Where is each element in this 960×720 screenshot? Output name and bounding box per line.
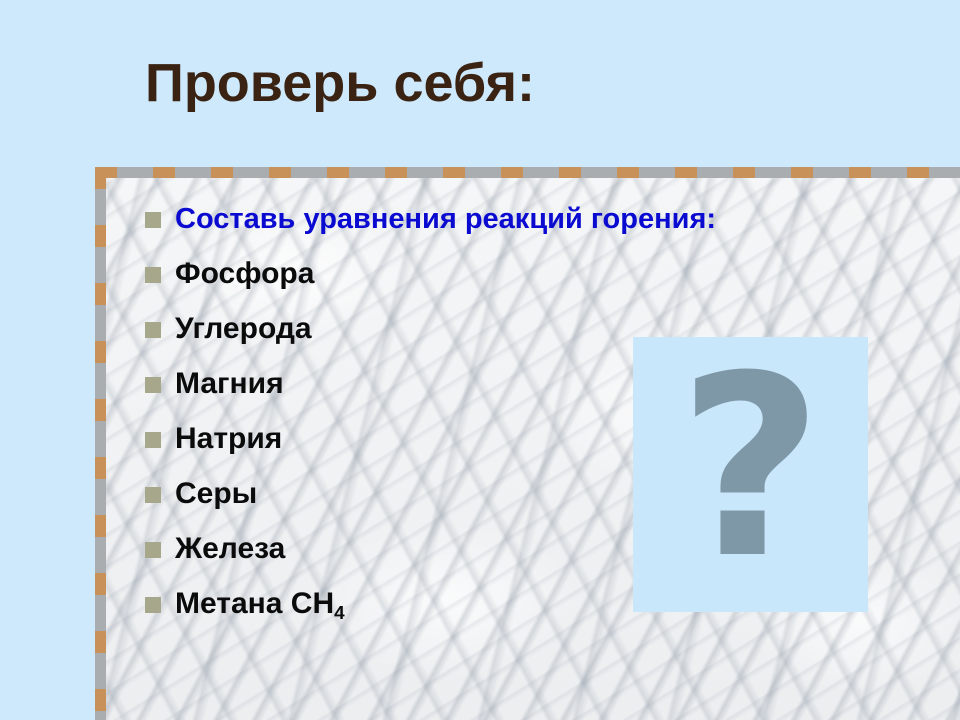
list-item-subscript: 4 — [334, 603, 345, 624]
bullet-square-icon — [145, 597, 161, 613]
bullet-square-icon — [145, 212, 161, 228]
question-mark-icon: ? — [678, 343, 823, 593]
list-item: Натрия — [145, 419, 665, 474]
bullet-square-icon — [145, 377, 161, 393]
bullet-square-icon — [145, 542, 161, 558]
bullet-square-icon — [145, 487, 161, 503]
list-item: Магния — [145, 364, 665, 419]
bullet-square-icon — [145, 432, 161, 448]
list-item-label: Фосфора — [175, 254, 314, 294]
bullet-list: Составь уравнения реакций горения: Фосфо… — [145, 199, 665, 639]
list-item: Составь уравнения реакций горения: — [145, 199, 665, 254]
list-item: Фосфора — [145, 254, 665, 309]
list-item: Серы — [145, 474, 665, 529]
list-item: Углерода — [145, 309, 665, 364]
list-item-label: Натрия — [175, 419, 282, 459]
content-panel: Составь уравнения реакций горения: Фосфо… — [95, 167, 960, 720]
list-item: Железа — [145, 529, 665, 584]
bullet-square-icon — [145, 322, 161, 338]
question-mark-graphic: ? — [633, 337, 868, 612]
list-item-label: Магния — [175, 364, 284, 404]
list-item: Метана CH4 — [145, 584, 665, 639]
list-item-text: Метана CH — [175, 587, 334, 620]
list-item-label: Железа — [175, 529, 285, 569]
list-item-label: Составь уравнения реакций горения: — [175, 199, 716, 239]
panel-border-left — [95, 167, 106, 720]
list-item-label: Углерода — [175, 309, 312, 349]
list-item-label: Метана CH4 — [175, 584, 345, 628]
list-item-label: Серы — [175, 474, 257, 514]
slide: Проверь себя: Составь уравнения реакций … — [0, 0, 960, 720]
bullet-square-icon — [145, 267, 161, 283]
panel-border-top — [95, 167, 960, 178]
page-title: Проверь себя: — [0, 55, 680, 112]
